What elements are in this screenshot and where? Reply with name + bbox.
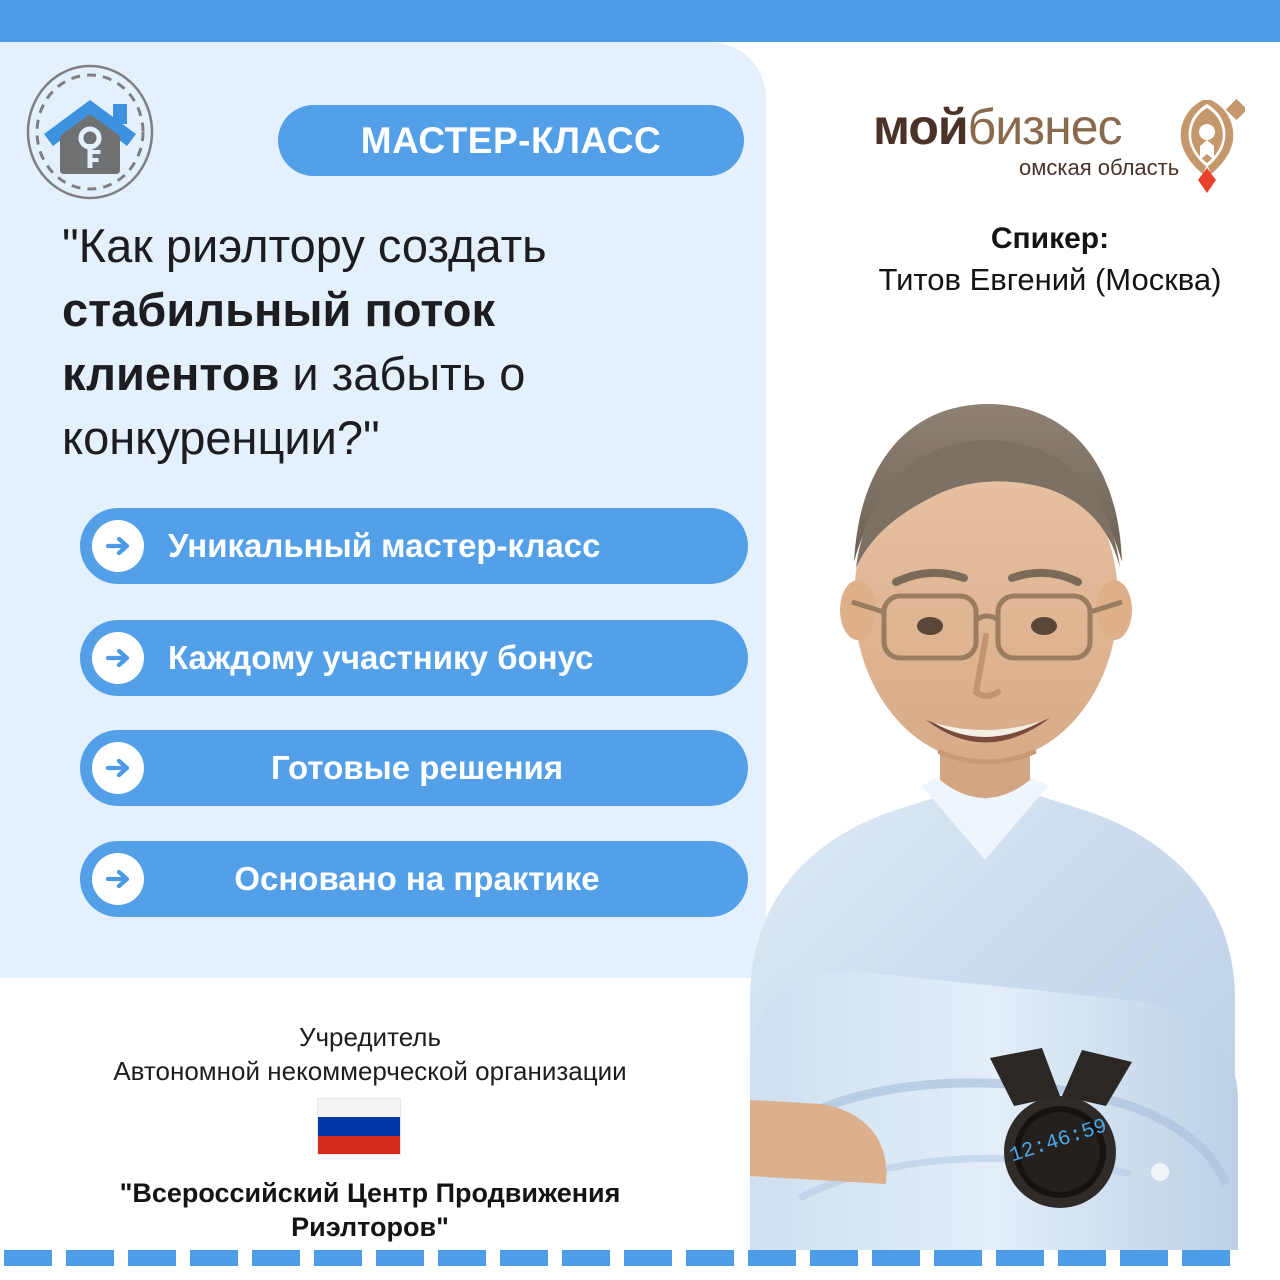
dash-segment [252, 1250, 300, 1266]
feature-pill-label: Каждому участнику бонус [168, 639, 593, 677]
headline-line-3-bold: клиентов [62, 347, 279, 400]
footer-founder-label: Учредитель [40, 1022, 700, 1053]
dash-segment [4, 1250, 52, 1266]
page-title: "Как риэлтору создать стабильный поток к… [62, 214, 722, 470]
brand-word-moy: мой [873, 99, 968, 155]
headline-line-3-rest: и забыть о [279, 347, 525, 400]
feature-pill-label: Основано на практике [144, 860, 690, 898]
my-business-logo: мойбизнес омская область [873, 98, 1243, 190]
feature-pill-ready-solutions[interactable]: Готовые решения [80, 730, 748, 806]
dash-segment [996, 1250, 1044, 1266]
house-with-key-icon [24, 62, 156, 202]
dash-segment [624, 1250, 672, 1266]
top-accent-bar [0, 0, 1280, 42]
brand-word-biznes: бизнес [968, 99, 1122, 155]
dash-segment [66, 1250, 114, 1266]
arrow-right-circle-icon [92, 742, 144, 794]
flag-stripe-red [318, 1136, 400, 1154]
my-business-wordmark: мойбизнес [873, 100, 1122, 154]
dash-segment [562, 1250, 610, 1266]
russia-flag-icon [317, 1098, 401, 1155]
master-class-badge-label: МАСТЕР-КЛАСС [361, 120, 661, 162]
master-class-badge: МАСТЕР-КЛАСС [278, 105, 744, 176]
footer-org-line-1: "Всероссийский Центр Продвижения [120, 1178, 621, 1208]
feature-pill-unique-masterclass[interactable]: Уникальный мастер-класс [80, 508, 748, 584]
arrow-right-circle-icon [92, 520, 144, 572]
dash-segment [314, 1250, 362, 1266]
brand-region-label: омская область [1019, 155, 1179, 181]
dash-segment [438, 1250, 486, 1266]
dash-segment [500, 1250, 548, 1266]
dash-segment [872, 1250, 920, 1266]
feature-pill-label: Готовые решения [144, 749, 690, 787]
headline-line-2-bold: стабильный поток [62, 283, 495, 336]
dash-segment [376, 1250, 424, 1266]
dash-segment [934, 1250, 982, 1266]
bottom-dashed-strip [0, 1250, 1280, 1266]
dash-segment [1058, 1250, 1106, 1266]
headline-line-1: "Как риэлтору создать [62, 219, 547, 272]
footer-org-line-2: Риэлторов" [291, 1212, 449, 1242]
arrow-right-circle-icon [92, 853, 144, 905]
poster-canvas: МАСТЕР-КЛАСС "Как риэлтору создать стаби… [0, 0, 1280, 1280]
footer-organization-type: Автономной некоммерческой организации [40, 1056, 700, 1087]
headline-line-4: конкуренции?" [62, 411, 380, 464]
dash-segment [128, 1250, 176, 1266]
dash-segment [1182, 1250, 1230, 1266]
dash-segment [686, 1250, 734, 1266]
speaker-title-label: Спикер: [845, 222, 1255, 256]
footer-organization-name: "Всероссийский Центр Продвижения Риэлтор… [40, 1176, 700, 1244]
arrow-right-circle-icon [92, 632, 144, 684]
speaker-name-label: Титов Евгений (Москва) [830, 262, 1270, 298]
dash-segment [1120, 1250, 1168, 1266]
feature-pill-practice-based[interactable]: Основано на практике [80, 841, 748, 917]
dash-segment [190, 1250, 238, 1266]
flag-stripe-blue [318, 1117, 400, 1135]
feature-pill-bonus[interactable]: Каждому участнику бонус [80, 620, 748, 696]
dash-segment [810, 1250, 858, 1266]
feature-pill-label: Уникальный мастер-класс [168, 527, 600, 565]
flag-stripe-white [318, 1099, 400, 1117]
speaker-photo: 12:46:59 [690, 300, 1280, 1250]
dash-segment [748, 1250, 796, 1266]
location-pin-icon [1173, 94, 1245, 194]
